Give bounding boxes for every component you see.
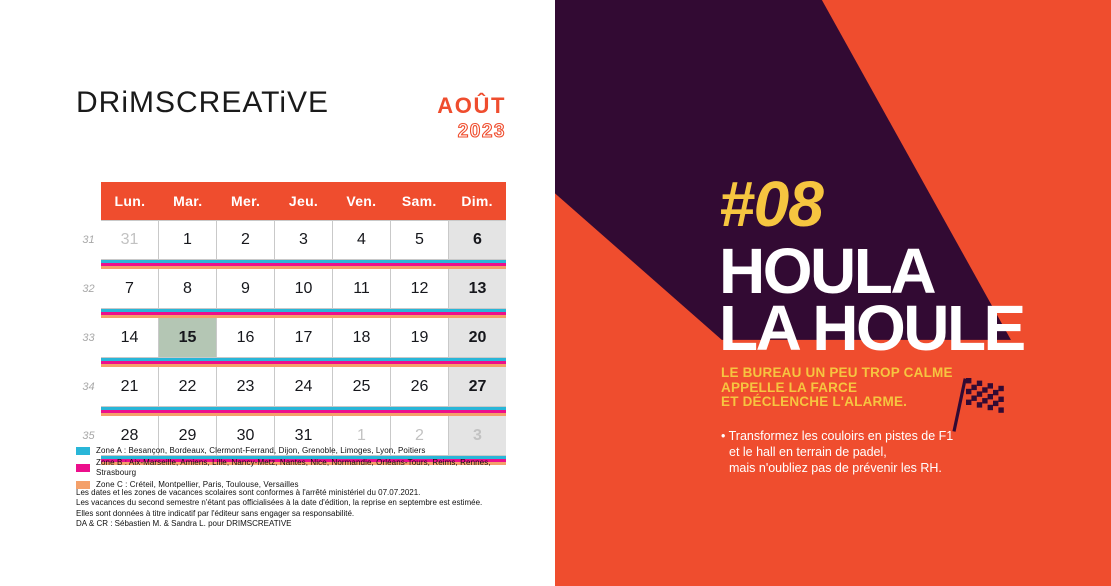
legal-footer: Les dates et les zones de vacances scola… xyxy=(76,488,526,530)
headline-line-1: HOULA xyxy=(719,243,1111,299)
flag-square xyxy=(988,394,993,399)
zone-stripe-separator xyxy=(76,260,506,269)
footer-line-2: Les vacances du second semestre n'étant … xyxy=(76,498,526,508)
zone-color-swatch xyxy=(76,464,90,472)
zone-stripe-separator xyxy=(76,407,506,416)
stripe-group xyxy=(101,407,506,416)
zone-legend-item: Zone A : Besançon, Bordeaux, Clermont-Fe… xyxy=(76,446,516,456)
day-cell[interactable]: 24 xyxy=(275,367,333,407)
calendar-week-row: 3131123456 xyxy=(76,220,506,260)
flag-square xyxy=(966,389,971,394)
zone-stripe-separator xyxy=(76,358,506,367)
stripe-group xyxy=(101,358,506,367)
flag-square xyxy=(977,381,982,386)
zone-label: Zone A : Besançon, Bordeaux, Clermont-Fe… xyxy=(96,446,425,456)
brand-header: DRiMSCREATiVE AOÛT 2023 xyxy=(76,86,506,150)
flag-square xyxy=(971,396,976,401)
day-cell[interactable]: 12 xyxy=(391,269,449,309)
day-cell[interactable]: 31 xyxy=(101,220,159,260)
month-label: AOÛT xyxy=(437,94,506,118)
week-day-cells: 14151617181920 xyxy=(101,318,506,358)
week-number-spacer xyxy=(76,182,101,220)
day-cell[interactable]: 26 xyxy=(391,367,449,407)
day-cell[interactable]: 1 xyxy=(159,220,217,260)
flag-square xyxy=(988,383,993,388)
day-header-3: Jeu. xyxy=(275,182,333,220)
poster-body-copy: • Transformez les couloirs en pistes de … xyxy=(721,428,1021,476)
day-cell[interactable]: 11 xyxy=(333,269,391,309)
zone-legend: Zone A : Besançon, Bordeaux, Clermont-Fe… xyxy=(76,446,516,492)
footer-line-1: Les dates et les zones de vacances scola… xyxy=(76,488,526,498)
week-number-31: 31 xyxy=(76,220,101,260)
flag-square xyxy=(982,398,987,403)
day-cell[interactable]: 16 xyxy=(217,318,275,358)
zone-stripe-separator xyxy=(76,309,506,318)
day-cell[interactable]: 15 xyxy=(159,318,217,358)
calendar-header-row: Lun.Mar.Mer.Jeu.Ven.Sam.Dim. xyxy=(76,182,506,220)
flag-square xyxy=(977,391,982,396)
headline-line-2: LA HOULE xyxy=(719,299,1111,357)
day-cell[interactable]: 18 xyxy=(333,318,391,358)
flag-square xyxy=(966,400,971,405)
flag-square xyxy=(993,401,998,406)
day-cell[interactable]: 23 xyxy=(217,367,275,407)
day-cell[interactable]: 7 xyxy=(101,269,159,309)
flag-square xyxy=(966,378,971,383)
calendar-table: Lun.Mar.Mer.Jeu.Ven.Sam.Dim. 31311234563… xyxy=(76,182,506,465)
day-header-cells: Lun.Mar.Mer.Jeu.Ven.Sam.Dim. xyxy=(101,182,506,220)
week-number-spacer xyxy=(76,407,101,416)
day-cell[interactable]: 6 xyxy=(449,220,506,260)
zone-legend-item: Zone B : Aix-Marseille, Amiens, Lille, N… xyxy=(76,458,516,478)
day-cell[interactable]: 9 xyxy=(217,269,275,309)
day-header-5: Sam. xyxy=(390,182,448,220)
day-cell[interactable]: 27 xyxy=(449,367,506,407)
day-cell[interactable]: 17 xyxy=(275,318,333,358)
flag-square xyxy=(988,405,993,410)
flag-square xyxy=(998,386,1003,391)
flag-square xyxy=(993,390,998,395)
zone-color-swatch xyxy=(76,447,90,455)
day-header-6: Dim. xyxy=(448,182,506,220)
body-line-3: mais n'oubliez pas de prévenir les RH. xyxy=(721,460,1021,476)
footer-line-3: Elles sont données à titre indicatif par… xyxy=(76,509,526,519)
day-cell[interactable]: 2 xyxy=(217,220,275,260)
day-header-1: Mar. xyxy=(159,182,217,220)
day-cell[interactable]: 22 xyxy=(159,367,217,407)
issue-number: #08 xyxy=(719,172,823,236)
flag-square xyxy=(977,402,982,407)
day-cell[interactable]: 8 xyxy=(159,269,217,309)
week-number-spacer xyxy=(76,358,101,367)
week-number-32: 32 xyxy=(76,269,101,309)
flag-square xyxy=(982,387,987,392)
week-number-spacer xyxy=(76,260,101,269)
day-header-2: Mer. xyxy=(217,182,275,220)
day-cell[interactable]: 10 xyxy=(275,269,333,309)
stripe-group xyxy=(101,309,506,318)
day-cell[interactable]: 3 xyxy=(275,220,333,260)
stripe-group xyxy=(101,260,506,269)
calendar-week-row: 3421222324252627 xyxy=(76,367,506,407)
day-cell[interactable]: 20 xyxy=(449,318,506,358)
calendar-page: DRiMSCREATiVE AOÛT 2023 Lun.Mar.Mer.Jeu.… xyxy=(0,0,555,586)
day-cell[interactable]: 5 xyxy=(391,220,449,260)
body-line-2: et le hall en terrain de padel, xyxy=(721,444,1021,460)
day-cell[interactable]: 19 xyxy=(391,318,449,358)
week-day-cells: 31123456 xyxy=(101,220,506,260)
calendar-week-row: 3278910111213 xyxy=(76,269,506,309)
day-header-4: Ven. xyxy=(332,182,390,220)
day-cell[interactable]: 25 xyxy=(333,367,391,407)
checkered-flag-icon xyxy=(952,362,1022,434)
flag-square xyxy=(998,407,1003,412)
zone-label: Zone B : Aix-Marseille, Amiens, Lille, N… xyxy=(96,458,516,478)
flag-square xyxy=(971,385,976,390)
week-day-cells: 78910111213 xyxy=(101,269,506,309)
year-label: 2023 xyxy=(437,121,506,143)
day-cell[interactable]: 13 xyxy=(449,269,506,309)
calendar-body: 3131123456327891011121333141516171819203… xyxy=(76,220,506,465)
month-year-block: AOÛT 2023 xyxy=(437,94,506,143)
week-day-cells: 21222324252627 xyxy=(101,367,506,407)
calendar-week-row: 3314151617181920 xyxy=(76,318,506,358)
poster-page: #08 HOULA LA HOULE LE BUREAU UN PEU TROP… xyxy=(555,0,1111,586)
week-number-spacer xyxy=(76,309,101,318)
poster-headline: HOULA LA HOULE xyxy=(719,243,1111,357)
footer-line-4: DA & CR : Sébastien M. & Sandra L. pour … xyxy=(76,519,526,529)
week-number-33: 33 xyxy=(76,318,101,358)
week-number-34: 34 xyxy=(76,367,101,407)
day-cell[interactable]: 14 xyxy=(101,318,159,358)
day-cell[interactable]: 21 xyxy=(101,367,159,407)
day-cell[interactable]: 4 xyxy=(333,220,391,260)
day-header-0: Lun. xyxy=(101,182,159,220)
flag-square xyxy=(998,397,1003,402)
